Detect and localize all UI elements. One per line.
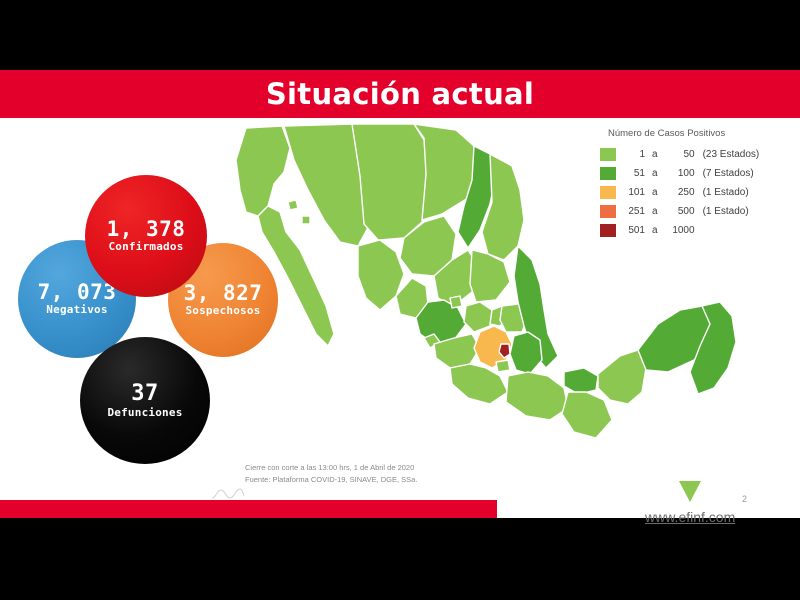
legend-state-count: (7 Estados): [703, 168, 754, 179]
footnote: Cierre con corte a las 13:00 hrs, 1 de A…: [245, 462, 417, 487]
legend-range-sep: a: [648, 206, 662, 217]
island-a: [288, 200, 298, 210]
legend-range-low: 1: [623, 149, 645, 160]
stat-label-defunciones: Defunciones: [107, 407, 182, 419]
stat-value-confirmados: 1, 378: [107, 218, 186, 240]
state-oaxaca: [506, 372, 568, 420]
legend-range-low: 51: [623, 168, 645, 179]
legend-state-count: (23 Estados): [703, 149, 760, 160]
legend-item: 501 a 1000: [600, 221, 790, 239]
state-morelos: [496, 360, 510, 372]
stat-circle-defunciones: 37 Defunciones: [80, 337, 210, 464]
page-title: Situación actual: [266, 80, 534, 109]
legend-range-high: 1000: [665, 225, 695, 236]
legend-range-sep: a: [648, 225, 662, 236]
legend-range-low: 501: [623, 225, 645, 236]
legend-swatch-icon: [600, 167, 616, 180]
footer-bar: [0, 500, 497, 518]
legend-range-low: 251: [623, 206, 645, 217]
legend-item: 101 a 250 (1 Estado): [600, 183, 790, 201]
legend-range: 51 a 100: [623, 168, 695, 179]
legend-range-high: 250: [665, 187, 695, 198]
state-aguascalientes: [450, 296, 462, 308]
legend-range-sep: a: [648, 187, 662, 198]
green-arrow-icon: [677, 480, 703, 504]
legend-state-count: (1 Estado): [703, 187, 749, 198]
legend-range-sep: a: [648, 149, 662, 160]
page-number: 2: [742, 494, 747, 504]
state-chihuahua: [352, 124, 428, 240]
legend-range-low: 101: [623, 187, 645, 198]
legend-item: 51 a 100 (7 Estados): [600, 164, 790, 182]
legend-swatch-icon: [600, 148, 616, 161]
legend-range: 1 a 50: [623, 149, 695, 160]
wave-mark-icon: [211, 487, 245, 499]
footnote-line-source: Fuente: Plataforma COVID-19, SINAVE, DGE…: [245, 474, 417, 486]
stat-label-sospechosos: Sospechosos: [185, 305, 260, 317]
stat-value-sospechosos: 3, 827: [184, 282, 263, 304]
slide-canvas: Situación actual: [0, 0, 800, 600]
state-chiapas: [562, 392, 612, 438]
legend-range-high: 500: [665, 206, 695, 217]
legend-item: 1 a 50 (23 Estados): [600, 145, 790, 163]
state-guanajuato: [464, 302, 492, 332]
state-campeche: [598, 350, 646, 404]
watermark-link[interactable]: www.efinf.com: [645, 509, 735, 525]
legend-swatch-icon: [600, 186, 616, 199]
legend-range-sep: a: [648, 168, 662, 179]
island-b: [302, 216, 310, 224]
footnote-line-cutoff: Cierre con corte a las 13:00 hrs, 1 de A…: [245, 462, 417, 474]
stat-value-defunciones: 37: [131, 382, 159, 405]
stat-label-confirmados: Confirmados: [108, 241, 183, 253]
title-banner: Situación actual: [0, 70, 800, 118]
legend-state-count: (1 Estado): [703, 206, 749, 217]
legend-range-high: 100: [665, 168, 695, 179]
legend-range-high: 50: [665, 149, 695, 160]
legend-title: Número de Casos Positivos: [608, 128, 790, 139]
legend-swatch-icon: [600, 224, 616, 237]
state-tabasco: [564, 368, 598, 394]
map-legend: Número de Casos Positivos 1 a 50 (23 Est…: [600, 128, 790, 240]
legend-range: 251 a 500: [623, 206, 695, 217]
stat-circle-confirmados: 1, 378 Confirmados: [85, 175, 207, 297]
legend-swatch-icon: [600, 205, 616, 218]
legend-item: 251 a 500 (1 Estado): [600, 202, 790, 220]
state-baja-california: [236, 126, 290, 216]
stat-value-negativos: 7, 073: [38, 281, 117, 303]
legend-range: 101 a 250: [623, 187, 695, 198]
legend-range: 501 a 1000: [623, 225, 695, 236]
stat-label-negativos: Negativos: [46, 304, 107, 316]
state-puebla: [510, 332, 542, 374]
